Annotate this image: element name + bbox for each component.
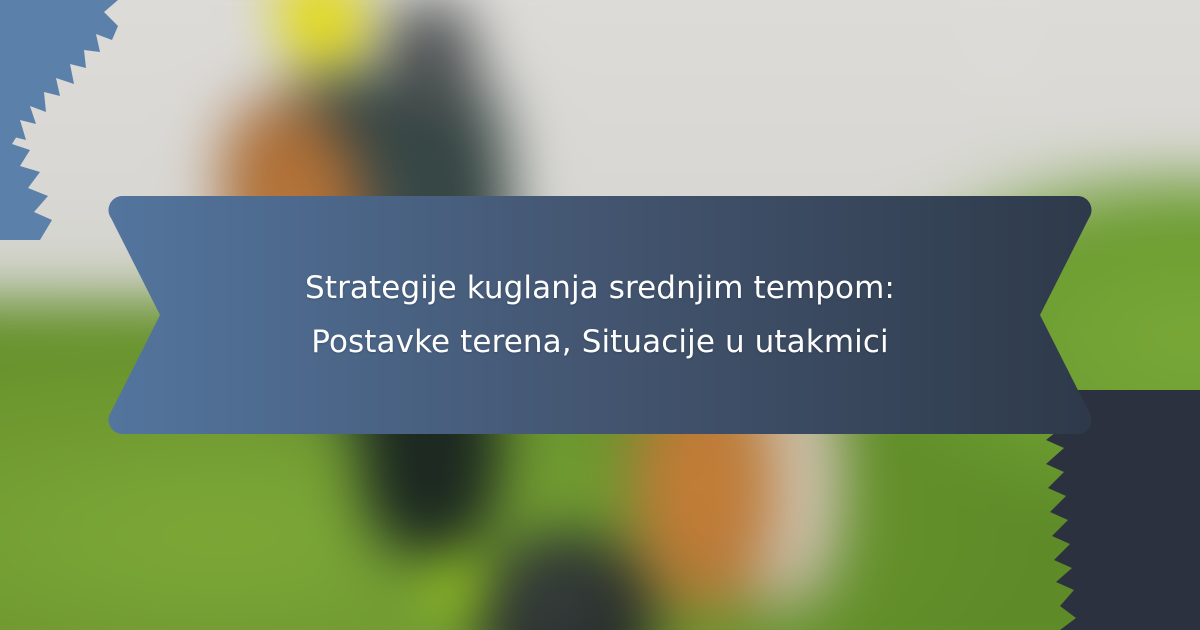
social-share-card: Strategije kuglanja srednjim tempom: Pos… [0,0,1200,630]
title-line-1: Strategije kuglanja srednjim tempom: [305,264,895,312]
title-line-2: Postavke terena, Situacije u utakmici [311,318,888,366]
background-pole [980,37,1021,157]
title-ribbon: Strategije kuglanja srednjim tempom: Pos… [108,196,1092,434]
player-head [383,0,478,119]
ribbon-text-block: Strategije kuglanja srednjim tempom: Pos… [108,196,1092,434]
